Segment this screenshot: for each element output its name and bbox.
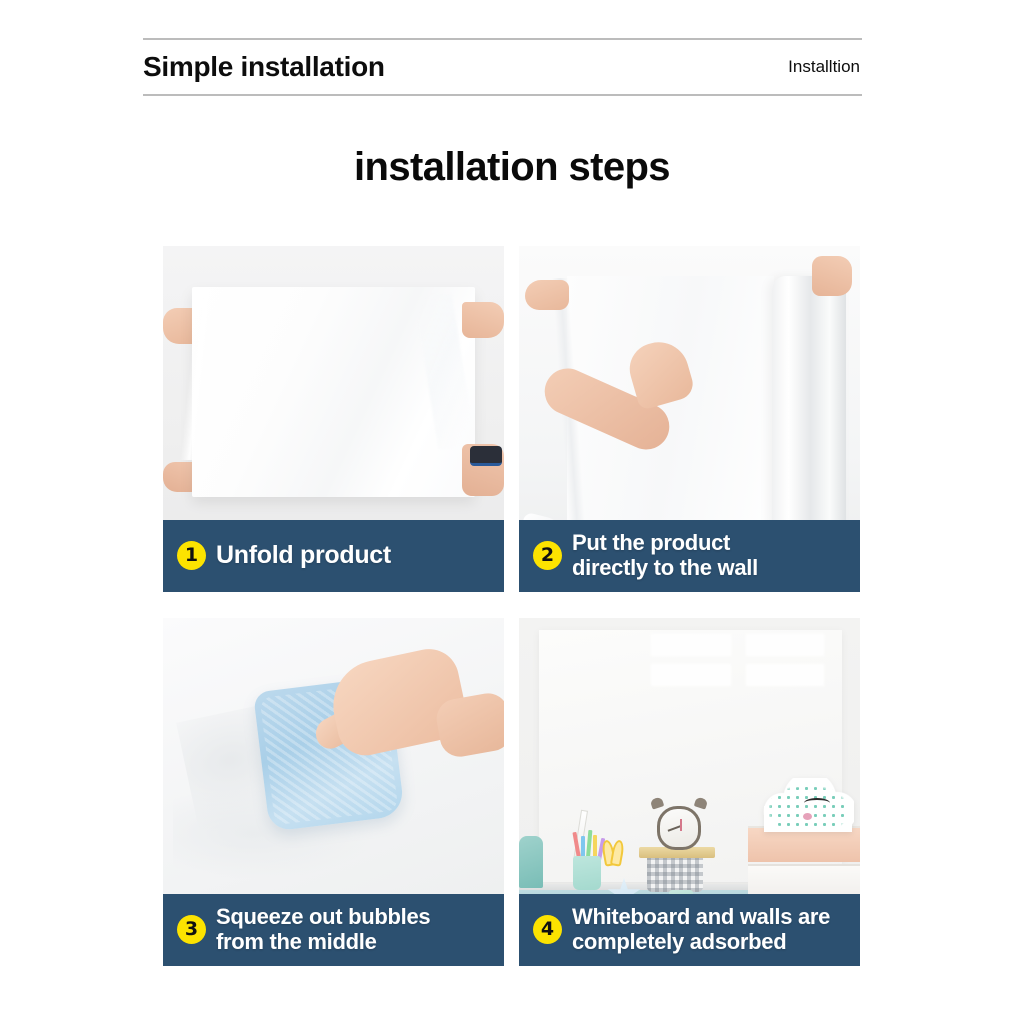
chair-icon — [519, 836, 543, 888]
alarm-clock-icon — [657, 806, 701, 850]
checkered-container — [647, 852, 703, 892]
step-2-caption: 2 Put the product directly to the wall — [519, 520, 860, 592]
upper-left-hand-icon — [525, 280, 569, 310]
cloud-pillow-eyelash — [804, 798, 830, 808]
step-card-1: 1 Unfold product — [163, 246, 504, 592]
step-number-badge-1: 1 — [177, 541, 206, 570]
cloud-pillow-cheek — [803, 813, 812, 820]
step-3-caption-text: Squeeze out bubbles from the middle — [216, 905, 430, 954]
step-card-4: 4 Whiteboard and walls are completely ad… — [519, 618, 860, 966]
step-2-line-1: Put the product — [572, 531, 758, 556]
step-number-badge-2: 2 — [533, 541, 562, 570]
step-1-caption-text: Unfold product — [216, 542, 391, 569]
step-4-line-1: Whiteboard and walls are — [572, 905, 830, 930]
scissors-icon — [603, 832, 623, 866]
page-header: Simple installation Installtion — [143, 38, 862, 96]
page-title-heading: Simple installation — [143, 51, 385, 83]
wristwatch-icon — [470, 446, 502, 466]
step-2-line-2: directly to the wall — [572, 556, 758, 581]
step-3-line-2: from the middle — [216, 930, 430, 955]
upper-right-hand-icon — [812, 256, 852, 296]
step-card-2: 2 Put the product directly to the wall — [519, 246, 860, 592]
installation-steps-grid: 1 Unfold product 2 Put the product direc… — [163, 246, 860, 966]
step-4-caption-text: Whiteboard and walls are completely adso… — [572, 905, 830, 954]
step-3-caption: 3 Squeeze out bubbles from the middle — [163, 894, 504, 966]
step-3-line-1: Squeeze out bubbles — [216, 905, 430, 930]
step-number-badge-4: 4 — [533, 915, 562, 944]
step-4-line-2: completely adsorbed — [572, 930, 830, 955]
step-1-line-1: Unfold product — [216, 542, 391, 569]
step-card-3: 3 Squeeze out bubbles from the middle — [163, 618, 504, 966]
step-2-caption-text: Put the product directly to the wall — [572, 531, 758, 580]
step-4-caption: 4 Whiteboard and walls are completely ad… — [519, 894, 860, 966]
pencil-cup — [573, 856, 601, 890]
step-number-badge-3: 3 — [177, 915, 206, 944]
step-1-caption: 1 Unfold product — [163, 520, 504, 592]
window-reflection — [651, 634, 826, 686]
right-hand-icon — [462, 302, 504, 338]
installation-steps-title: installation steps — [0, 145, 1024, 190]
header-section-tag: Installtion — [788, 57, 862, 77]
